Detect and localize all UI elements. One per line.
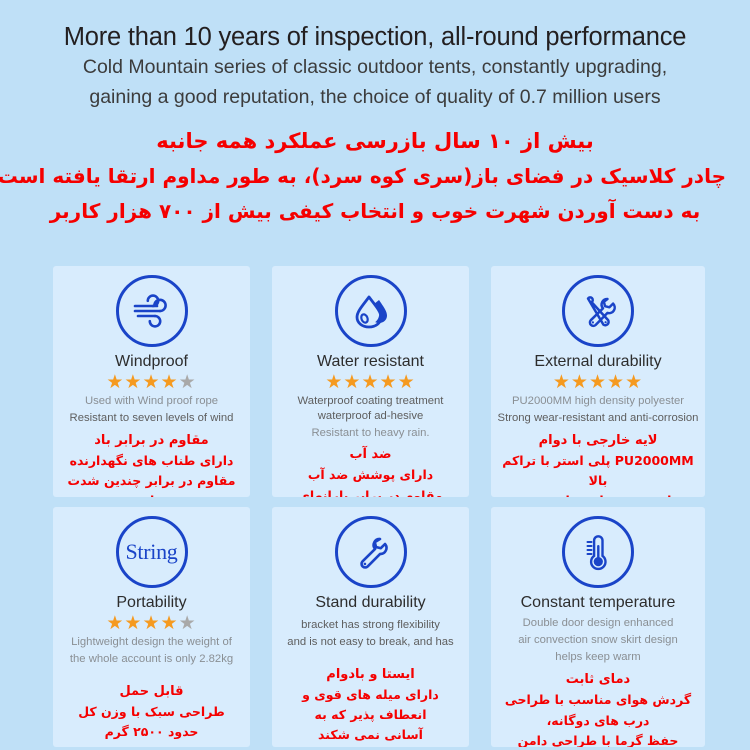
icon-container: String — [55, 513, 248, 591]
card-description-line-1: Used with Wind proof rope — [55, 392, 248, 409]
headline-english-secondary: Cold Mountain series of classic outdoor … — [24, 52, 726, 82]
star-empty: ★ — [179, 371, 197, 393]
star-filled: ★ — [124, 612, 142, 634]
card-persian-line-2: دارای طناب های نگهدارنده — [61, 451, 242, 471]
feature-card-windproof[interactable]: Windproof ★★★★★ Used with Wind proof rop… — [53, 266, 250, 497]
icon-container — [274, 272, 467, 350]
card-persian-line-2: گردش هوای مناسب با طراحی درب های دوگانه، — [499, 690, 697, 731]
card-persian-line-1: قابل حمل — [61, 681, 242, 702]
star-filled: ★ — [142, 612, 160, 634]
feature-card-grid: Windproof ★★★★★ Used with Wind proof rop… — [53, 266, 705, 747]
wrench-icon — [335, 516, 407, 588]
card-persian-text: ایستا و بادوام دارای میله های قوی و انعط… — [274, 650, 467, 746]
card-persian-text: لایه خارجی با دوام PU2000MM پلی استر با … — [493, 426, 703, 497]
feature-card-stand-durability[interactable]: Stand durability bracket has strong flex… — [272, 507, 469, 747]
card-description-line-2: Strong wear-resistant and anti-corrosion — [493, 409, 703, 426]
card-title: External durability — [493, 352, 703, 371]
card-persian-text: ضد آب دارای پوشش ضد آب مقاوم در برابر با… — [274, 440, 467, 497]
headline-persian-tertiary: به دست آوردن شهرت خوب و انتخاب کیفی بیش … — [24, 194, 726, 229]
star-rating: ★★★★★ — [274, 373, 467, 392]
star-filled: ★ — [571, 371, 589, 393]
card-description-line-2: the whole account is only 2.82kg — [55, 650, 248, 667]
card-description-line-2: Resistant to seven levels of wind — [55, 409, 248, 426]
star-filled: ★ — [398, 371, 416, 393]
card-persian-line-3: مقاومت در برابر سایش و ضد خوردگی — [499, 491, 697, 497]
card-description-line-2: and is not easy to break, and has — [274, 633, 467, 650]
star-filled: ★ — [106, 371, 124, 393]
star-filled: ★ — [142, 371, 160, 393]
card-persian-line-3: حفظ گرما با طراحی دامن برفی — [499, 731, 697, 747]
feature-card-portability[interactable]: String Portability ★★★★★ Lightweight des… — [53, 507, 250, 747]
card-title: Water resistant — [274, 352, 467, 371]
star-rating: ★★★★★ — [55, 373, 248, 392]
star-filled: ★ — [161, 612, 179, 634]
card-description-line-1: bracket has strong flexibility — [274, 616, 467, 633]
feature-card-constant-temperature[interactable]: Constant temperature Double door design … — [491, 507, 705, 747]
card-persian-line-1: دمای ثابت — [499, 669, 697, 690]
star-rating: ★★★★★ — [55, 614, 248, 633]
star-rating: ★★★★★ — [493, 373, 703, 392]
star-filled: ★ — [380, 371, 398, 393]
card-description-line-1: Double door design enhanced — [493, 614, 703, 631]
star-filled: ★ — [325, 371, 343, 393]
star-filled: ★ — [343, 371, 361, 393]
card-title: Constant temperature — [493, 593, 703, 612]
icon-container — [274, 513, 467, 591]
card-description-line-1: Waterproof coating treatment waterproof … — [274, 392, 467, 423]
card-title: Stand durability — [274, 593, 467, 612]
card-persian-text: قابل حمل طراحی سبک با وزن کل حدود ۲۵۰۰ گ… — [55, 667, 248, 743]
feature-card-external-durability[interactable]: External durability ★★★★★ PU2000MM high … — [491, 266, 705, 497]
card-description-line-1: Lightweight design the weight of — [55, 633, 248, 650]
card-description-line-3: helps keep warm — [493, 648, 703, 665]
card-persian-line-2: دارای پوشش ضد آب — [280, 465, 461, 485]
icon-container — [55, 272, 248, 350]
string-text-icon: String — [116, 516, 188, 588]
card-persian-line-1: لایه خارجی با دوام — [499, 430, 697, 451]
wind-icon — [116, 275, 188, 347]
water-drop-icon — [335, 275, 407, 347]
tools-icon — [562, 275, 634, 347]
header-block: More than 10 years of inspection, all-ro… — [0, 0, 750, 229]
card-description-line-2: Resistant to heavy rain. — [274, 424, 467, 441]
headline-persian-secondary: چادر کلاسیک در فضای باز(سری کوه سرد)، به… — [24, 159, 726, 194]
thermometer-icon — [562, 516, 634, 588]
card-persian-line-3: آسانی نمی شکند — [280, 725, 461, 745]
infographic-page: More than 10 years of inspection, all-ro… — [0, 0, 750, 750]
card-persian-line-3: مقاوم در برابر بارانهای سنگین — [280, 486, 461, 498]
headline-english-primary: More than 10 years of inspection, all-ro… — [24, 22, 726, 52]
star-filled: ★ — [625, 371, 643, 393]
icon-container — [493, 272, 703, 350]
card-persian-line-3: مقاوم در برابر چندین شدت باد — [61, 471, 242, 497]
card-persian-text: مقاوم در برابر باد دارای طناب های نگهدار… — [55, 426, 248, 497]
card-persian-line-2: طراحی سبک با وزن کل حدود ۲۵۰۰ گرم — [61, 702, 242, 743]
star-empty: ★ — [179, 612, 197, 634]
icon-container — [493, 513, 703, 591]
card-description-line-1: PU2000MM high density polyester — [493, 392, 703, 409]
card-persian-line-1: مقاوم در برابر باد — [61, 430, 242, 451]
feature-card-water-resistant[interactable]: Water resistant ★★★★★ Waterproof coating… — [272, 266, 469, 497]
star-filled: ★ — [607, 371, 625, 393]
headline-persian-primary: بیش از ۱۰ سال بازرسی عملکرد همه جانبه — [24, 123, 726, 160]
star-filled: ★ — [589, 371, 607, 393]
card-persian-line-2: PU2000MM پلی استر با تراکم بالا — [499, 451, 697, 492]
headline-english-tertiary: gaining a good reputation, the choice of… — [24, 82, 726, 112]
star-filled: ★ — [161, 371, 179, 393]
card-title: Portability — [55, 593, 248, 612]
star-filled: ★ — [361, 371, 379, 393]
card-title: Windproof — [55, 352, 248, 371]
card-description-line-2: air convection snow skirt design — [493, 631, 703, 648]
string-label: String — [126, 539, 178, 565]
star-filled: ★ — [106, 612, 124, 634]
card-persian-line-2: دارای میله های قوی و انعطاف پذیر که به — [280, 685, 461, 726]
star-filled: ★ — [553, 371, 571, 393]
card-persian-line-1: ضد آب — [280, 444, 461, 465]
card-persian-text: دمای ثابت گردش هوای مناسب با طراحی درب ه… — [493, 664, 703, 747]
card-persian-line-1: ایستا و بادوام — [280, 664, 461, 685]
star-filled: ★ — [124, 371, 142, 393]
